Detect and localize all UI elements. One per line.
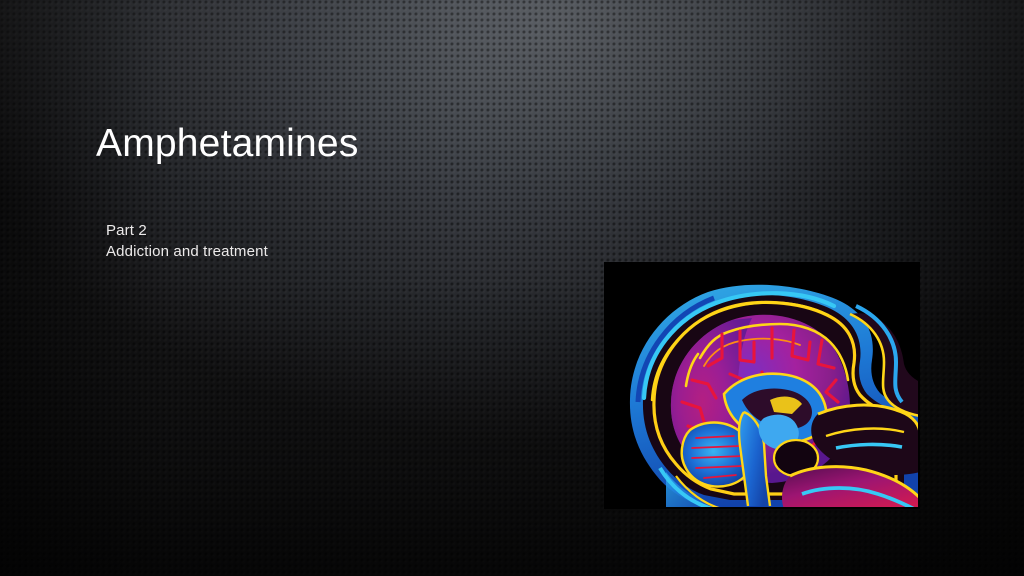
brain-mri-illustration bbox=[604, 262, 920, 509]
title-placeholder[interactable]: Amphetamines bbox=[96, 122, 556, 167]
subtitle-placeholder[interactable]: Part 2 Addiction and treatment bbox=[106, 220, 526, 262]
subtitle-line-part: Part 2 bbox=[106, 220, 526, 241]
brain-mri-image[interactable] bbox=[604, 262, 920, 509]
page-title: Amphetamines bbox=[96, 122, 556, 167]
presentation-slide: Amphetamines Part 2 Addiction and treatm… bbox=[0, 0, 1024, 576]
subtitle-line-topic: Addiction and treatment bbox=[106, 241, 526, 262]
